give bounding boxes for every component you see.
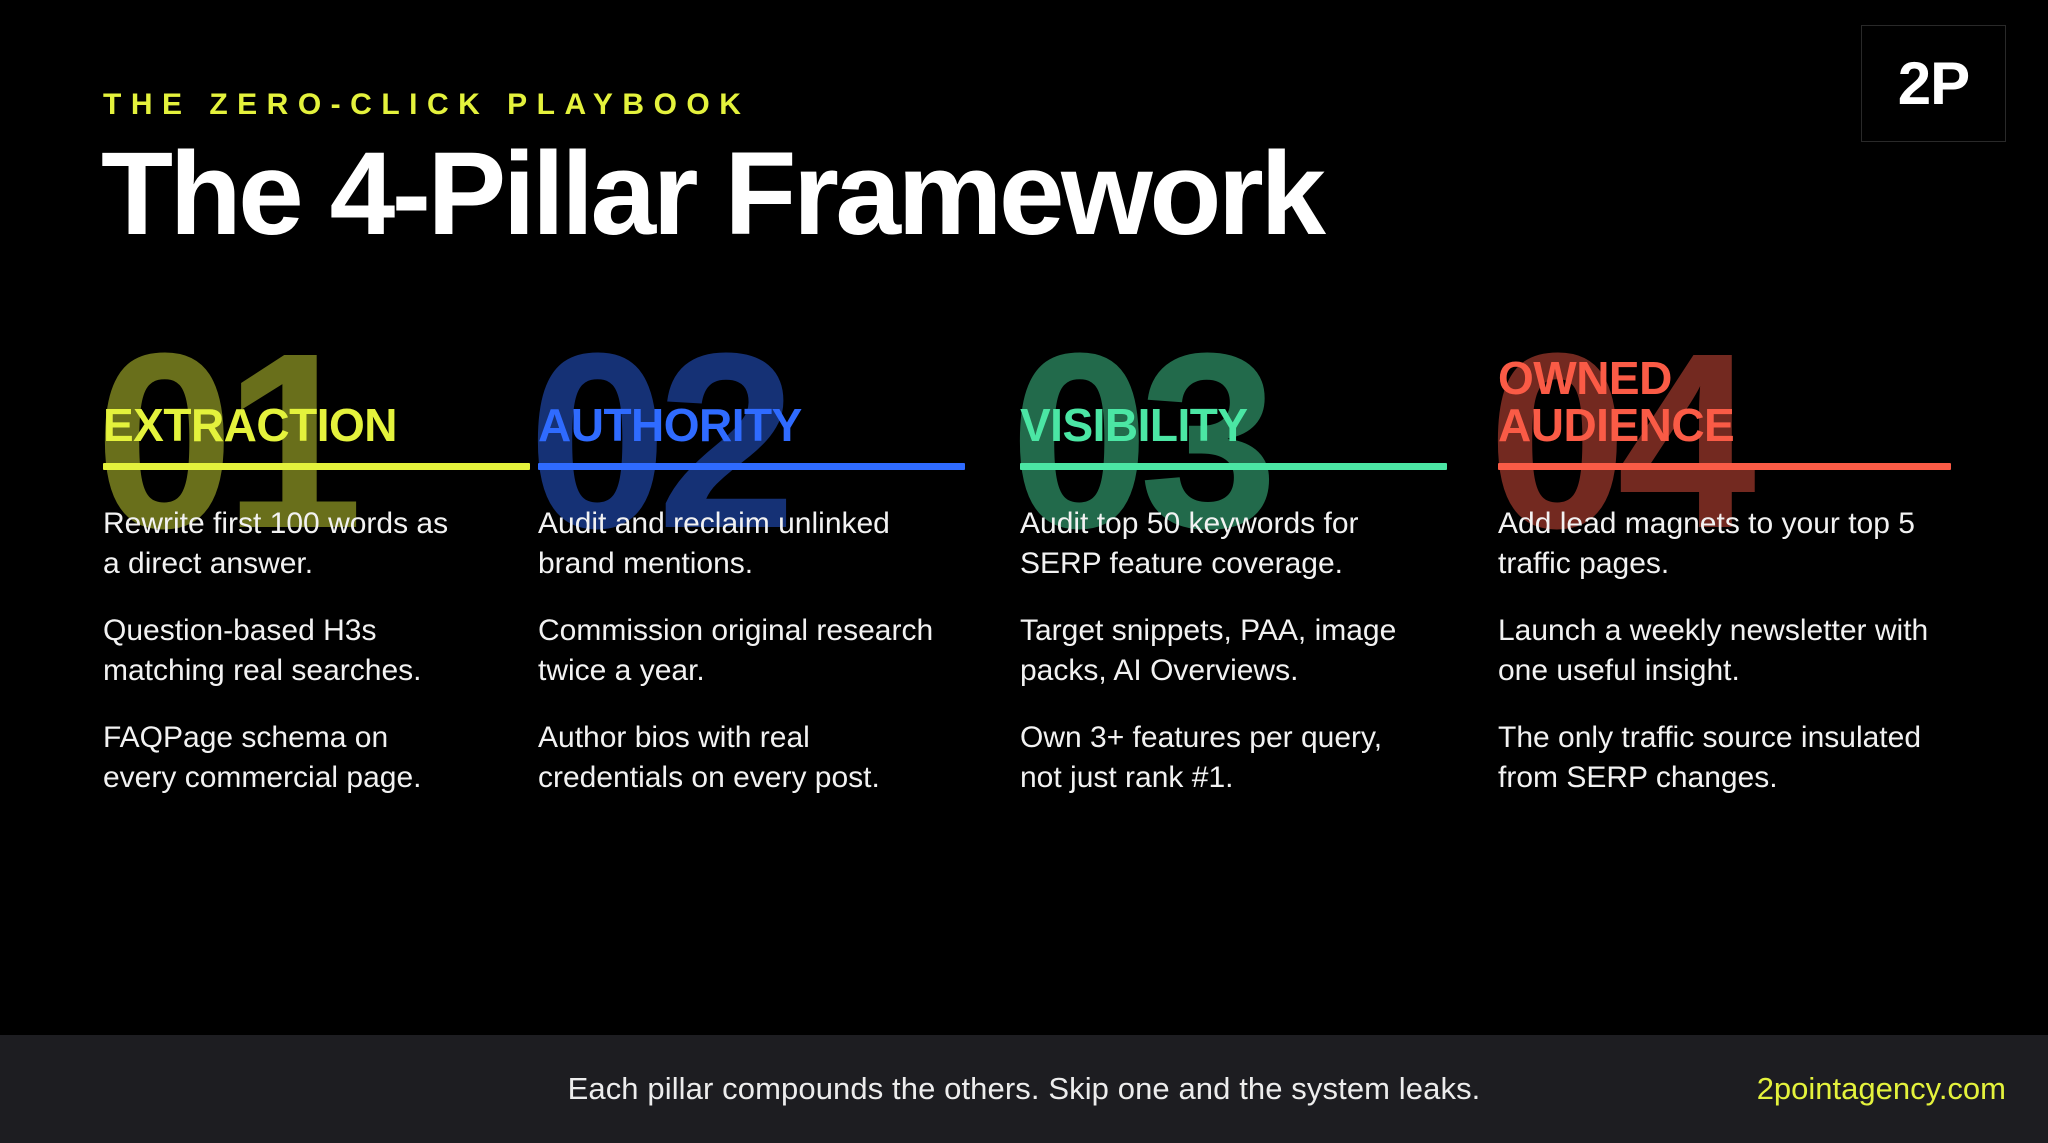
pillar-card-04: 04 OWNED AUDIENCE Add lead magnets to yo… bbox=[1440, 330, 2000, 1000]
brand-logo: 2P bbox=[1861, 25, 2006, 142]
list-item: Launch a weekly newsletter with one usef… bbox=[1498, 611, 1948, 690]
list-item: Target snippets, PAA, image packs, AI Ov… bbox=[1020, 611, 1420, 690]
pillar-body-01: Rewrite first 100 words as a direct answ… bbox=[103, 504, 460, 798]
brand-logo-text: 2P bbox=[1898, 54, 1969, 114]
pillar-body-02: Audit and reclaim unlinked brand mention… bbox=[538, 504, 940, 798]
pillar-card-03: 03 VISIBILITY Audit top 50 keywords for … bbox=[960, 330, 1440, 1000]
pillar-card-02: 02 AUTHORITY Audit and reclaim unlinked … bbox=[480, 330, 960, 1000]
pillar-body-03: Audit top 50 keywords for SERP feature c… bbox=[1020, 504, 1420, 798]
pillar-title-04: OWNED AUDIENCE bbox=[1498, 355, 1980, 449]
list-item: Question-based H3s matching real searche… bbox=[103, 611, 460, 690]
list-item: Author bios with real credentials on eve… bbox=[538, 718, 940, 797]
pillar-accent-bar-03 bbox=[1020, 463, 1447, 470]
pillar-accent-bar-02 bbox=[538, 463, 965, 470]
pillar-body-04: Add lead magnets to your top 5 traffic p… bbox=[1498, 504, 1980, 798]
pillar-header-01: EXTRACTION bbox=[103, 330, 460, 470]
pillar-accent-bar-01 bbox=[103, 463, 530, 470]
pillar-title-03: VISIBILITY bbox=[1020, 402, 1420, 449]
list-item: Audit and reclaim unlinked brand mention… bbox=[538, 504, 940, 583]
list-item: The only traffic source insulated from S… bbox=[1498, 718, 1948, 797]
list-item: Audit top 50 keywords for SERP feature c… bbox=[1020, 504, 1420, 583]
pillar-title-01: EXTRACTION bbox=[103, 402, 460, 449]
pillar-card-01: 01 EXTRACTION Rewrite first 100 words as… bbox=[0, 330, 480, 1000]
pillar-header-03: VISIBILITY bbox=[1020, 330, 1420, 470]
pillar-title-02: AUTHORITY bbox=[538, 402, 940, 449]
list-item: Add lead magnets to your top 5 traffic p… bbox=[1498, 504, 1948, 583]
pillar-accent-bar-04 bbox=[1498, 463, 1951, 470]
pillar-header-04: OWNED AUDIENCE bbox=[1498, 330, 1980, 470]
page-title: The 4-Pillar Framework bbox=[101, 131, 1322, 258]
list-item: Own 3+ features per query, not just rank… bbox=[1020, 718, 1420, 797]
pillar-grid: 01 EXTRACTION Rewrite first 100 words as… bbox=[0, 330, 2048, 1000]
slide-canvas: 2P THE ZERO-CLICK PLAYBOOK The 4-Pillar … bbox=[0, 0, 2048, 1143]
footer-bar: Each pillar compounds the others. Skip o… bbox=[0, 1035, 2048, 1143]
list-item: Commission original research twice a yea… bbox=[538, 611, 940, 690]
footer-note: Each pillar compounds the others. Skip o… bbox=[0, 1071, 2048, 1107]
list-item: FAQPage schema on every commercial page. bbox=[103, 718, 460, 797]
pillar-header-02: AUTHORITY bbox=[538, 330, 940, 470]
list-item: Rewrite first 100 words as a direct answ… bbox=[103, 504, 460, 583]
footer-url[interactable]: 2pointagency.com bbox=[1757, 1071, 2006, 1107]
eyebrow-label: THE ZERO-CLICK PLAYBOOK bbox=[103, 90, 750, 120]
